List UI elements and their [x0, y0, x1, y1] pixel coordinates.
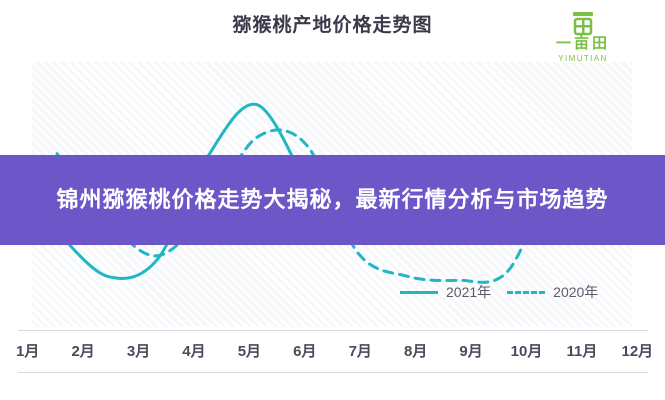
x-axis-bottom-rule	[18, 372, 648, 373]
x-tick: 12月	[610, 332, 665, 372]
legend-item-2020: 2020年	[507, 282, 598, 302]
x-axis-labels: 1月 2月 3月 4月 5月 6月 7月 8月 9月 10月 11月 12月	[0, 332, 665, 372]
x-tick: 2月	[55, 332, 110, 372]
x-tick: 9月	[443, 332, 498, 372]
article-title-text: 锦州猕猴桃价格走势大揭秘，最新行情分析与市场趋势	[30, 183, 634, 217]
brand-logo: 一亩田 YIMUTIAN	[523, 10, 643, 58]
yimutian-logo-icon	[569, 10, 597, 36]
legend-label-2021: 2021年	[446, 282, 491, 302]
x-tick: 4月	[166, 332, 221, 372]
x-tick: 7月	[333, 332, 388, 372]
x-tick: 8月	[388, 332, 443, 372]
x-tick: 3月	[111, 332, 166, 372]
screenshot-root: 猕猴桃产地价格走势图 一亩田 YIMUTIAN	[0, 0, 665, 400]
x-tick: 1月	[0, 332, 55, 372]
x-tick: 11月	[554, 332, 609, 372]
x-tick: 6月	[277, 332, 332, 372]
logo-text-cn: 一亩田	[523, 36, 643, 52]
legend-item-2021: 2021年	[400, 282, 491, 302]
chart-legend: 2021年 2020年	[400, 280, 630, 304]
article-title-banner: 锦州猕猴桃价格走势大揭秘，最新行情分析与市场趋势	[0, 155, 665, 245]
x-tick: 5月	[222, 332, 277, 372]
legend-label-2020: 2020年	[553, 282, 598, 302]
legend-swatch-dashed-icon	[507, 291, 545, 294]
x-axis-top-rule	[18, 330, 648, 331]
legend-swatch-solid-icon	[400, 291, 438, 294]
x-tick: 10月	[499, 332, 554, 372]
